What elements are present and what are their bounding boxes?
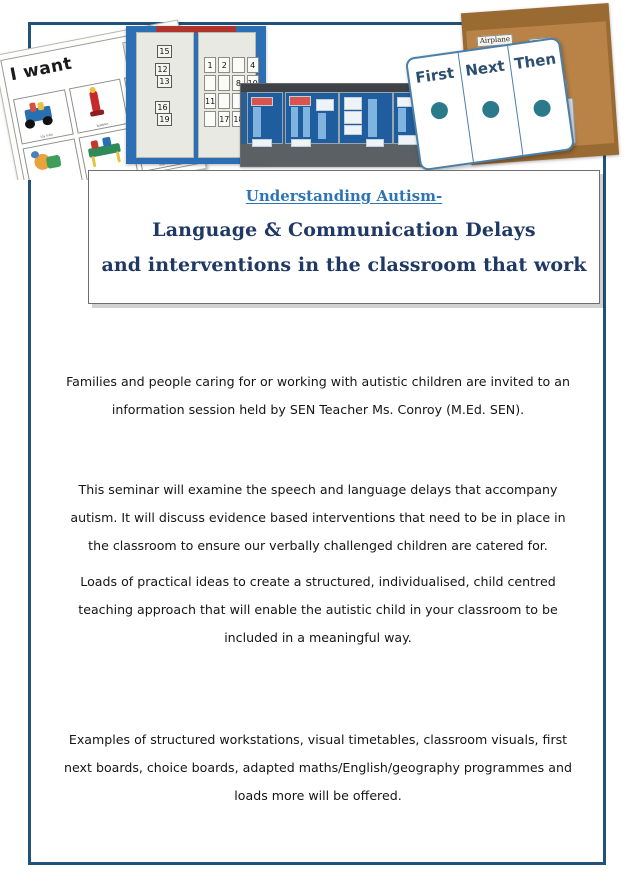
number-cell xyxy=(204,75,216,91)
choice-card: playdough xyxy=(23,138,83,180)
number-cell: 17 xyxy=(218,111,230,127)
page-title-line-2: and interventions in the classroom that … xyxy=(89,254,599,276)
number-cell xyxy=(218,93,230,109)
title-box: Understanding Autism- Language & Communi… xyxy=(88,170,600,304)
choice-card-caption: playdough xyxy=(33,178,80,180)
paragraph-examples: Examples of structured workstations, vis… xyxy=(60,726,576,810)
velcro-dot xyxy=(481,100,500,119)
poster-page: I want toy train bubb xyxy=(0,0,636,887)
number-cell: 1 xyxy=(204,57,216,73)
number-cell xyxy=(232,57,244,73)
photo-floor xyxy=(241,144,439,166)
next-label: Next xyxy=(459,56,512,81)
then-label: Then xyxy=(509,49,562,74)
title-eyebrow: Understanding Autism- xyxy=(89,187,599,205)
velcro-dot xyxy=(430,101,449,120)
page-title-line-1: Language & Communication Delays xyxy=(89,219,599,241)
velcro-dot xyxy=(532,99,551,118)
number-cell: 11 xyxy=(204,93,216,109)
paragraph-practical-ideas: Loads of practical ideas to create a str… xyxy=(60,568,576,652)
number-cell xyxy=(204,111,216,127)
first-next-then-board-photo: First Next Then xyxy=(405,37,575,172)
timetable-panel xyxy=(285,92,339,144)
first-label: First xyxy=(408,63,461,88)
body-copy: Families and people caring for or workin… xyxy=(60,368,576,810)
number-cell xyxy=(218,75,230,91)
paragraph-invitation: Families and people caring for or workin… xyxy=(60,368,576,424)
folder-left-page: 15 12 13 16 19 xyxy=(136,32,194,158)
number-cell: 2 xyxy=(218,57,230,73)
number-cell: 4 xyxy=(247,57,259,73)
photo-collage: I want toy train bubb xyxy=(0,0,636,180)
number-chip: 15 xyxy=(157,45,172,58)
choice-card: toy train xyxy=(13,89,73,144)
timetable-panel xyxy=(339,92,393,144)
number-chip: 13 xyxy=(157,75,172,88)
i-want-label: I want xyxy=(8,54,73,86)
choice-card: bubbles xyxy=(69,79,129,134)
number-chip: 19 xyxy=(157,113,172,126)
timetable-panel xyxy=(247,92,283,144)
paragraph-seminar-scope: This seminar will examine the speech and… xyxy=(60,476,576,560)
